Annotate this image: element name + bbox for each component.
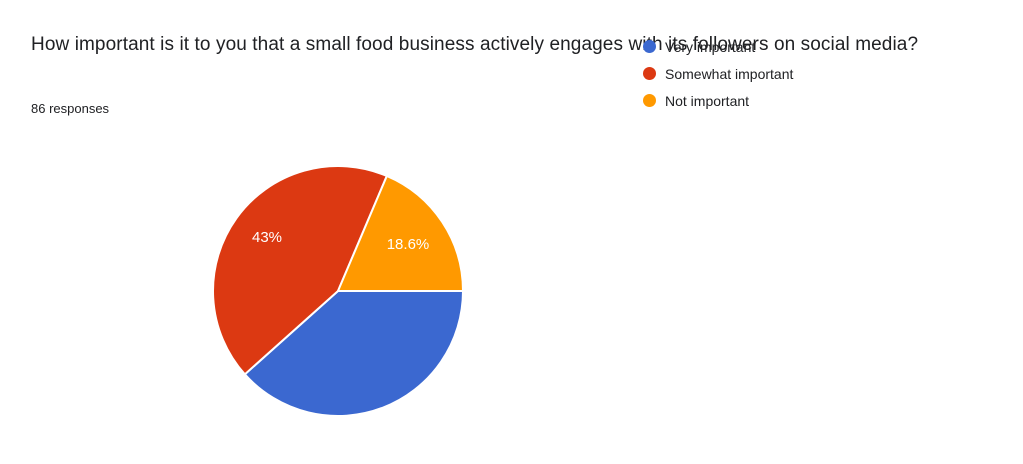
pie-chart-graphic: 38.4%43%18.6% (150, 130, 550, 464)
legend-item[interactable]: Very important (643, 33, 943, 60)
legend-color-dot-icon (643, 94, 656, 107)
response-count-label: 86 responses (31, 100, 109, 118)
pie-slice-value-label: 18.6% (387, 236, 430, 253)
chart-legend: Very importantSomewhat importantNot impo… (643, 33, 943, 114)
legend-color-dot-icon (643, 67, 656, 80)
pie-slice-value-label: 38.4% (493, 367, 536, 384)
legend-color-dot-icon (643, 40, 656, 53)
pie-slices (213, 166, 463, 416)
pie-slice-value-label: 43% (252, 229, 282, 246)
legend-item-label: Very important (665, 38, 755, 56)
pie-chart-card: How important is it to you that a small … (0, 0, 1023, 464)
legend-item[interactable]: Not important (643, 87, 943, 114)
legend-item[interactable]: Somewhat important (643, 60, 943, 87)
legend-item-label: Not important (665, 92, 749, 110)
plot-area: 38.4%43%18.6% (0, 130, 1023, 464)
legend-item-label: Somewhat important (665, 65, 793, 83)
